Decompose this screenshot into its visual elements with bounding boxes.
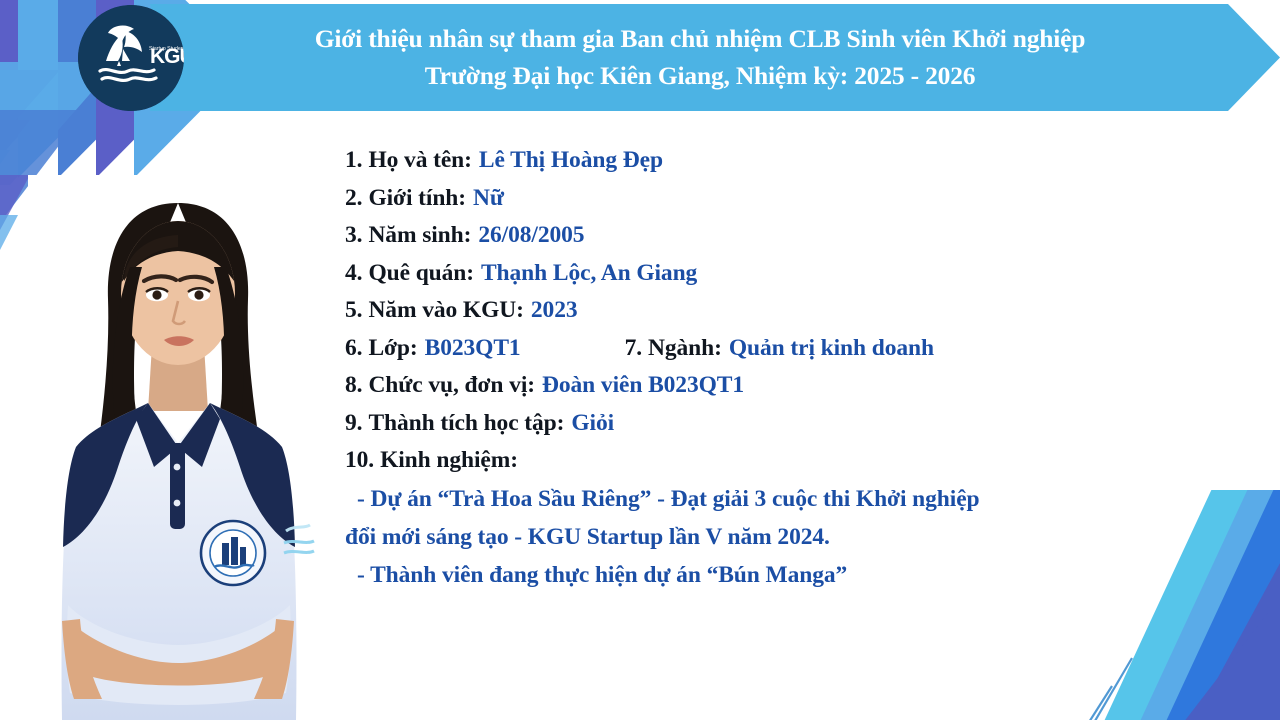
profile-row: 8. Chức vụ, đơn vị: Đoàn viên B023QT1 — [345, 367, 1225, 405]
row-label: Thành tích học tập: — [368, 410, 564, 437]
profile-row: 9. Thành tích học tập: Giỏi — [345, 405, 1225, 443]
major-row-label: Ngành: — [648, 335, 722, 362]
row-value: 2023 — [531, 297, 578, 324]
class-row-label: Lớp: — [368, 335, 417, 362]
row-label: Năm vào KGU: — [368, 297, 523, 324]
row-number: 1. — [345, 147, 362, 174]
row-number: 2. — [345, 185, 362, 212]
row-label: Quê quán: — [368, 260, 474, 287]
slide-root: Giới thiệu nhân sự tham gia Ban chủ nhiệ… — [0, 0, 1280, 720]
row-number: 3. — [345, 222, 362, 249]
class-row-value: B023QT1 — [425, 335, 521, 362]
experience-number: 10. — [345, 447, 374, 474]
row-value: Giỏi — [571, 410, 614, 437]
experience-line: - Thành viên đang thực hiện dự án “Bún M… — [345, 556, 1225, 594]
kgu-logo: KGU Startup Student Club — [78, 5, 184, 111]
row-label: Năm sinh: — [368, 222, 471, 249]
major-group: 7. Ngành: Quản trị kinh doanh — [625, 335, 934, 362]
profile-row: 5. Năm vào KGU: 2023 — [345, 292, 1225, 330]
major-row-value: Quản trị kinh doanh — [729, 335, 934, 362]
row-label: Họ và tên: — [368, 147, 471, 174]
header-banner: Giới thiệu nhân sự tham gia Ban chủ nhiệ… — [150, 4, 1280, 111]
profile-row: 2. Giới tính: Nữ — [345, 180, 1225, 218]
row-value: Lê Thị Hoàng Đẹp — [479, 147, 663, 174]
row-number: 5. — [345, 297, 362, 324]
experience-line: - Dự án “Trà Hoa Sầu Riêng” - Đạt giải 3… — [345, 480, 1225, 518]
experience-line: đổi mới sáng tạo - KGU Startup lần V năm… — [345, 518, 1225, 556]
profile-row-split: 6. Lớp: B023QT1 7. Ngành: Quản trị kinh … — [345, 330, 1225, 368]
row-value: Thạnh Lộc, An Giang — [481, 260, 697, 287]
profile-row: 3. Năm sinh: 26/08/2005 — [345, 217, 1225, 255]
row-label: Chức vụ, đơn vị: — [368, 372, 535, 399]
row-value: Nữ — [473, 185, 504, 212]
row-number: 8. — [345, 372, 362, 399]
profile-row: 4. Quê quán: Thạnh Lộc, An Giang — [345, 255, 1225, 293]
experience-label: Kinh nghiệm: — [380, 447, 518, 474]
header-title-line-2: Trường Đại học Kiên Giang, Nhiệm kỳ: 202… — [425, 58, 976, 94]
profile-content: 1. Họ và tên: Lê Thị Hoàng Đẹp 2. Giới t… — [345, 142, 1225, 594]
class-row-number: 6. — [345, 335, 362, 362]
row-label: Giới tính: — [368, 185, 466, 212]
major-row-number: 7. — [625, 335, 642, 362]
experience-heading-row: 10. Kinh nghiệm: — [345, 442, 1225, 480]
header-title-line-1: Giới thiệu nhân sự tham gia Ban chủ nhiệ… — [315, 21, 1086, 57]
row-value: Đoàn viên B023QT1 — [542, 372, 744, 399]
profile-row: 1. Họ và tên: Lê Thị Hoàng Đẹp — [345, 142, 1225, 180]
row-number: 9. — [345, 410, 362, 437]
banner-text-block: Giới thiệu nhân sự tham gia Ban chủ nhiệ… — [150, 4, 1280, 111]
student-portrait — [28, 175, 328, 720]
svg-text:Startup Student Club: Startup Student Club — [149, 46, 184, 52]
row-value: 26/08/2005 — [478, 222, 584, 249]
row-number: 4. — [345, 260, 362, 287]
